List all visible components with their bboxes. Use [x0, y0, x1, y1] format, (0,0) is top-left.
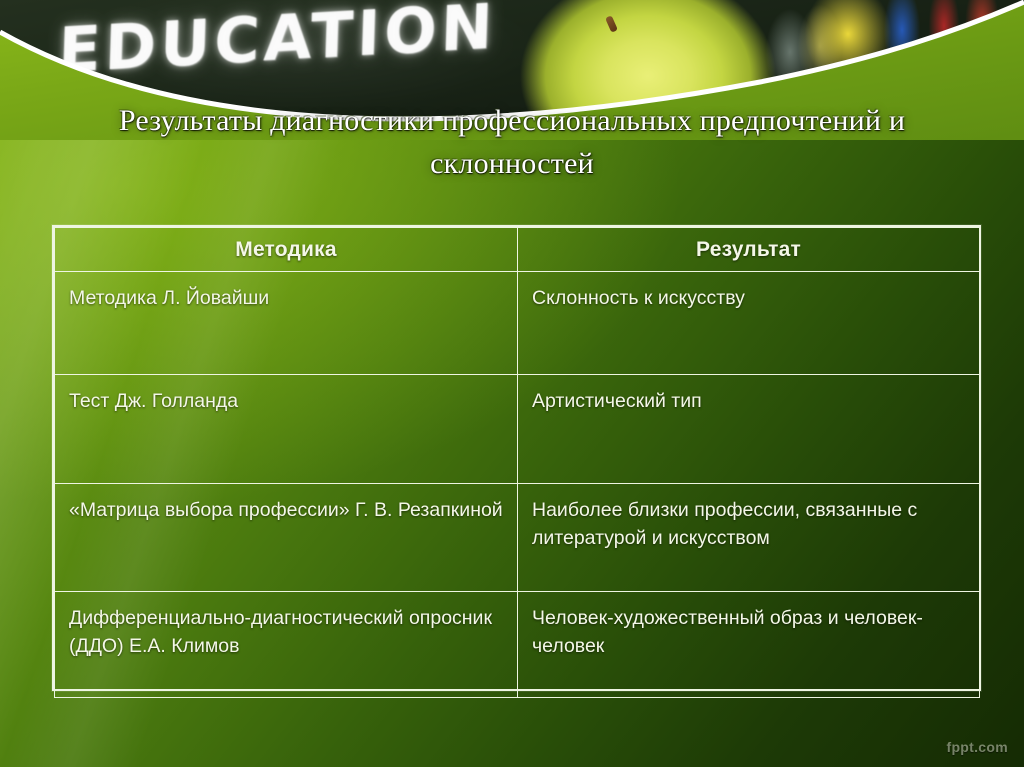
column-header-result: Результат	[518, 228, 980, 272]
results-table-container: Методика Результат Методика Л. Йовайши С…	[52, 225, 981, 691]
table-header-row: Методика Результат	[55, 228, 980, 272]
table-row: «Матрица выбора профессии» Г. В. Резапки…	[55, 484, 980, 592]
cell-method-text: Дифференциально-диагностический опросник…	[55, 592, 517, 660]
cell-result: Артистический тип	[518, 375, 980, 484]
cell-method-text: «Матрица выбора профессии» Г. В. Резапки…	[55, 484, 517, 525]
cell-result-text: Артистический тип	[518, 375, 979, 416]
slide-title: Результаты диагностики профессиональных …	[72, 100, 952, 185]
table-row: Дифференциально-диагностический опросник…	[55, 592, 980, 698]
cell-method: Дифференциально-диагностический опросник…	[55, 592, 518, 698]
cell-result: Человек-художественный образ и человек-ч…	[518, 592, 980, 698]
fppt-watermark: fppt.com	[946, 739, 1008, 755]
cell-method: «Матрица выбора профессии» Г. В. Резапки…	[55, 484, 518, 592]
cell-result-text: Склонность к искусству	[518, 272, 979, 313]
column-header-method: Методика	[55, 228, 518, 272]
cell-method: Тест Дж. Голланда	[55, 375, 518, 484]
cell-result-text: Человек-художественный образ и человек-ч…	[518, 592, 979, 660]
cell-result: Наиболее близки профессии, связанные с л…	[518, 484, 980, 592]
table-row: Методика Л. Йовайши Склонность к искусст…	[55, 272, 980, 375]
cell-method: Методика Л. Йовайши	[55, 272, 518, 375]
cell-result-text: Наиболее близки профессии, связанные с л…	[518, 484, 979, 552]
cell-method-text: Тест Дж. Голланда	[55, 375, 517, 416]
slide-canvas: EDUCATION Результаты диагностики професс…	[0, 0, 1024, 767]
cell-result: Склонность к искусству	[518, 272, 980, 375]
results-table: Методика Результат Методика Л. Йовайши С…	[54, 227, 980, 698]
cell-method-text: Методика Л. Йовайши	[55, 272, 517, 313]
table-row: Тест Дж. Голланда Артистический тип	[55, 375, 980, 484]
